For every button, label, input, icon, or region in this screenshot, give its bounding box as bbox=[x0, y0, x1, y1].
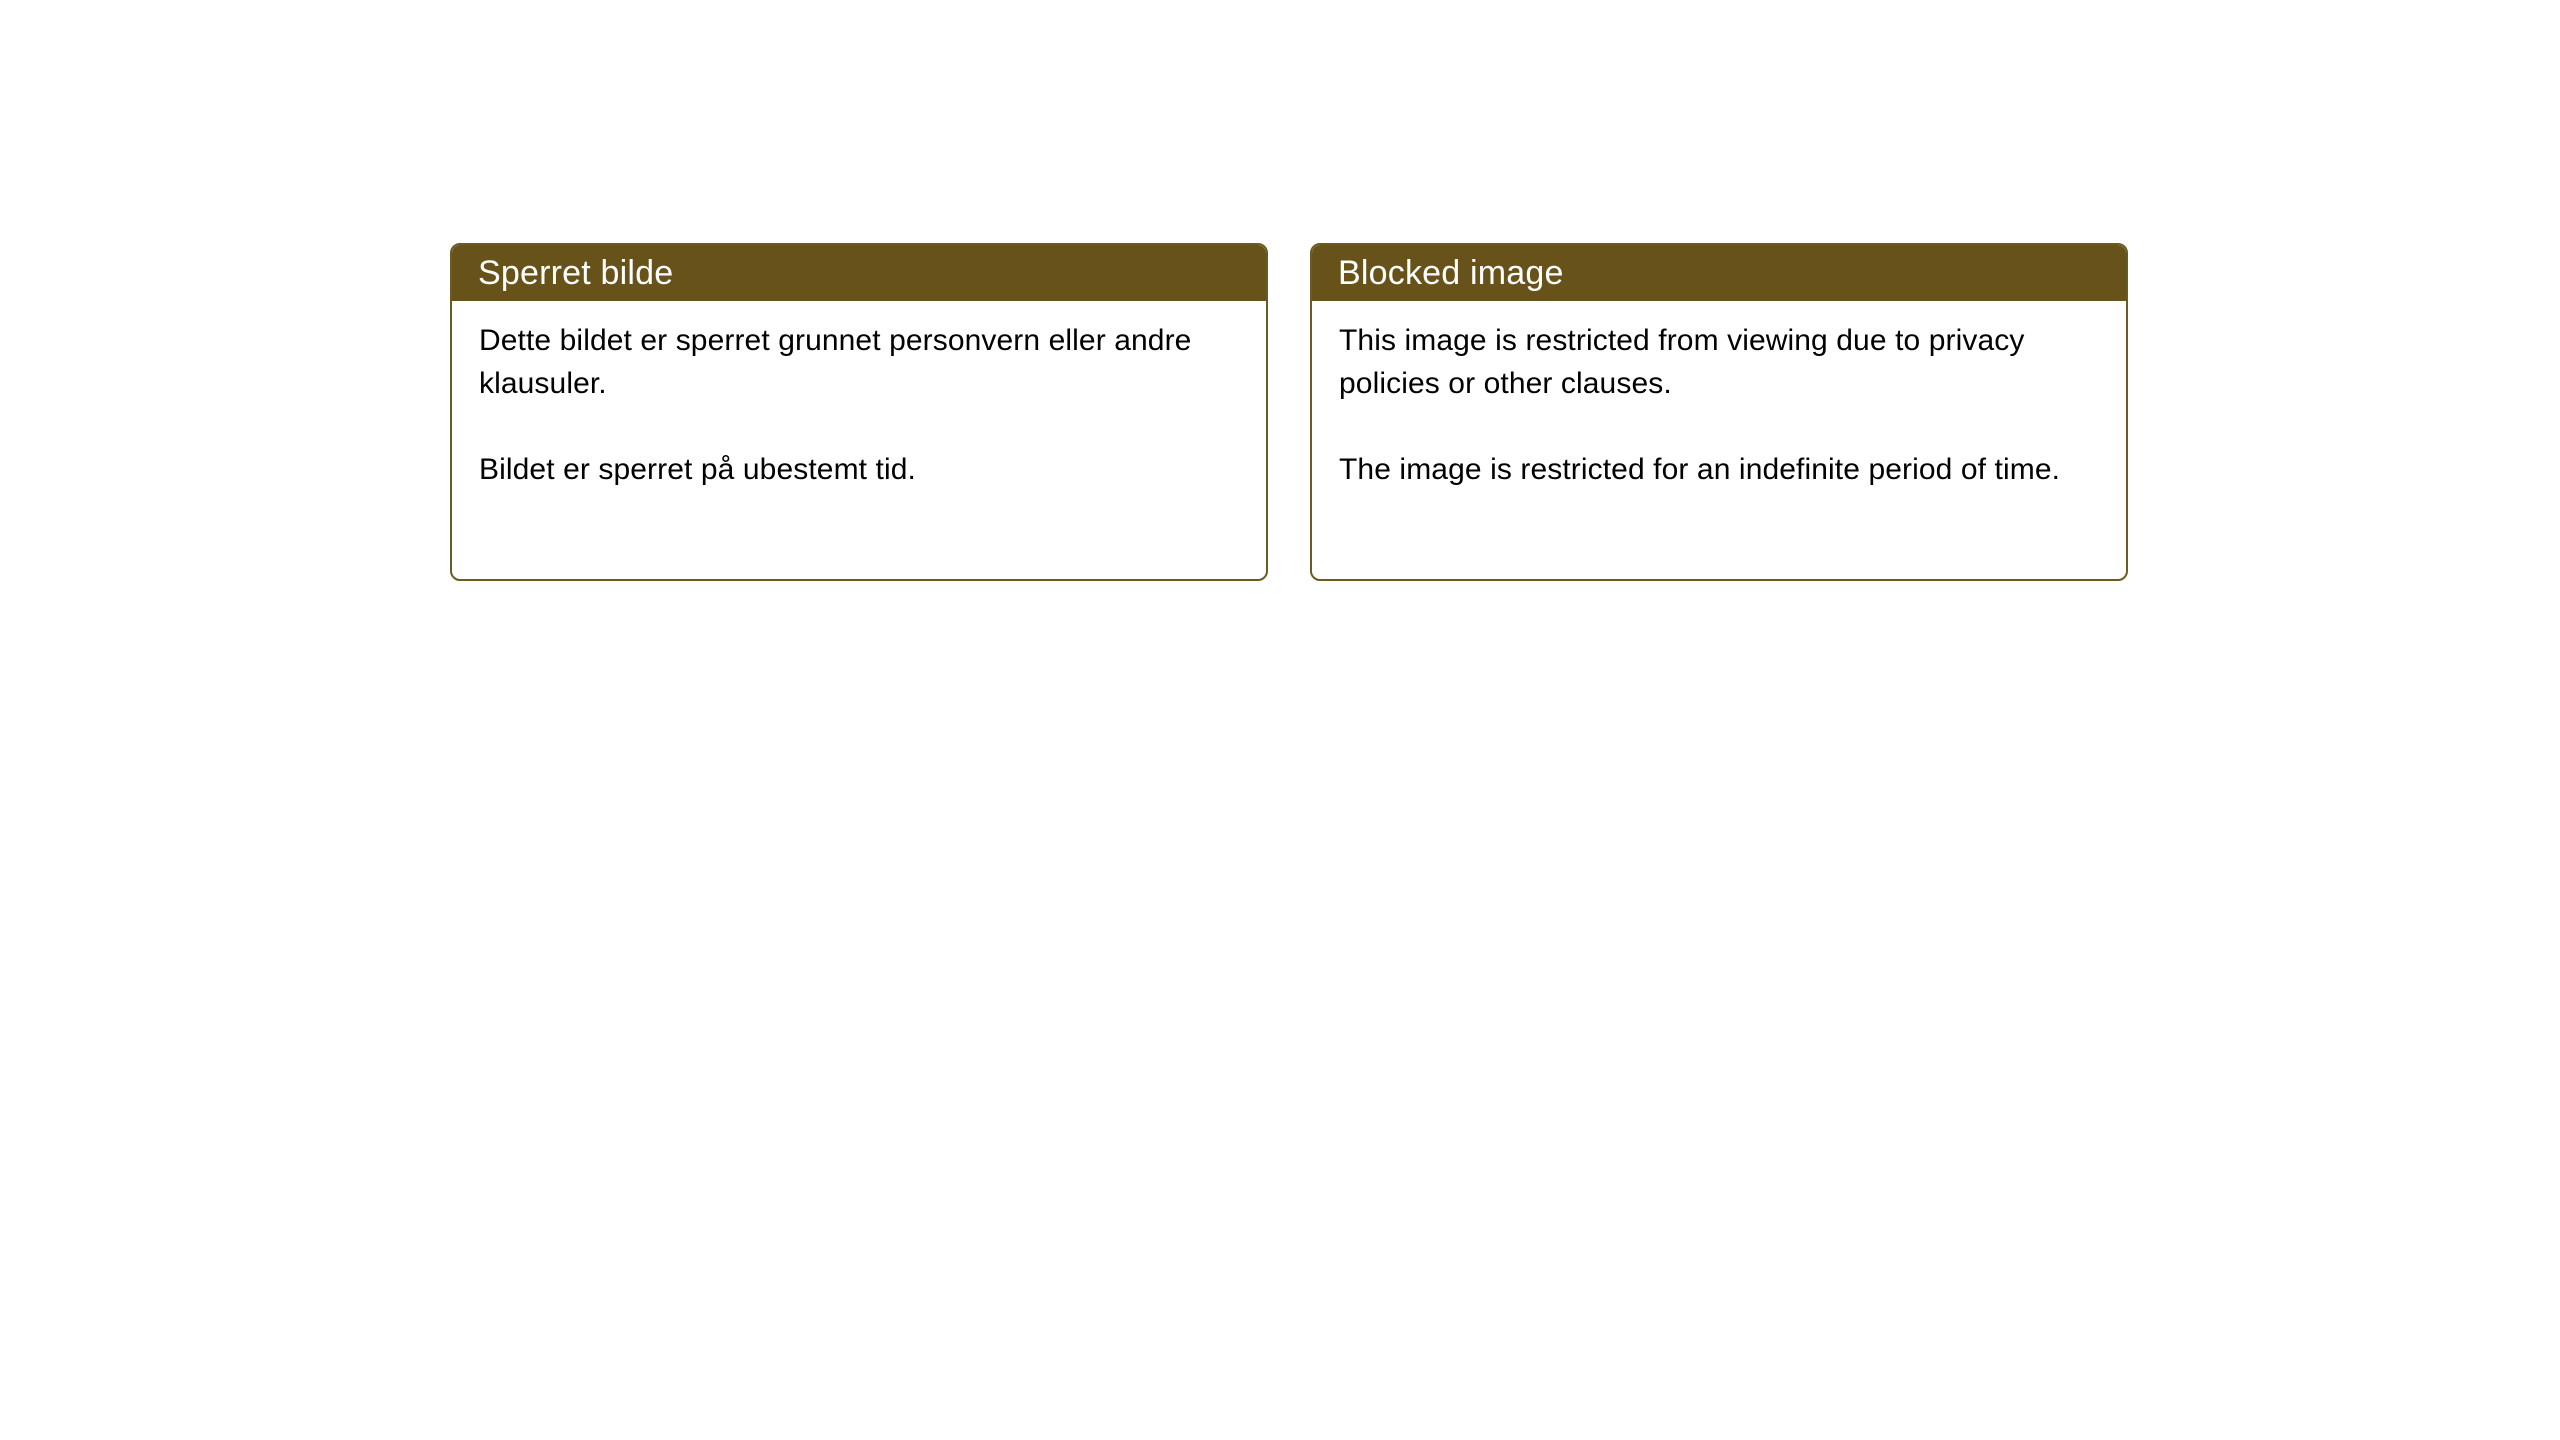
panel-body-no: Dette bildet er sperret grunnet personve… bbox=[452, 301, 1266, 491]
panel-title-no: Sperret bilde bbox=[478, 253, 673, 293]
panel-body-en: This image is restricted from viewing du… bbox=[1312, 301, 2126, 491]
panel-paragraph-no-2: Bildet er sperret på ubestemt tid. bbox=[479, 448, 1242, 491]
panel-header-no: Sperret bilde bbox=[452, 245, 1266, 301]
panel-title-en: Blocked image bbox=[1338, 253, 1564, 293]
panel-paragraph-no-1: Dette bildet er sperret grunnet personve… bbox=[479, 319, 1242, 405]
blocked-image-panel-no: Sperret bilde Dette bildet er sperret gr… bbox=[450, 243, 1268, 581]
panel-paragraph-en-2: The image is restricted for an indefinit… bbox=[1339, 448, 2102, 491]
panel-paragraph-en-1: This image is restricted from viewing du… bbox=[1339, 319, 2102, 405]
blocked-image-panel-en: Blocked image This image is restricted f… bbox=[1310, 243, 2128, 581]
panel-header-en: Blocked image bbox=[1312, 245, 2126, 301]
notice-stage: Sperret bilde Dette bildet er sperret gr… bbox=[0, 0, 2560, 1440]
